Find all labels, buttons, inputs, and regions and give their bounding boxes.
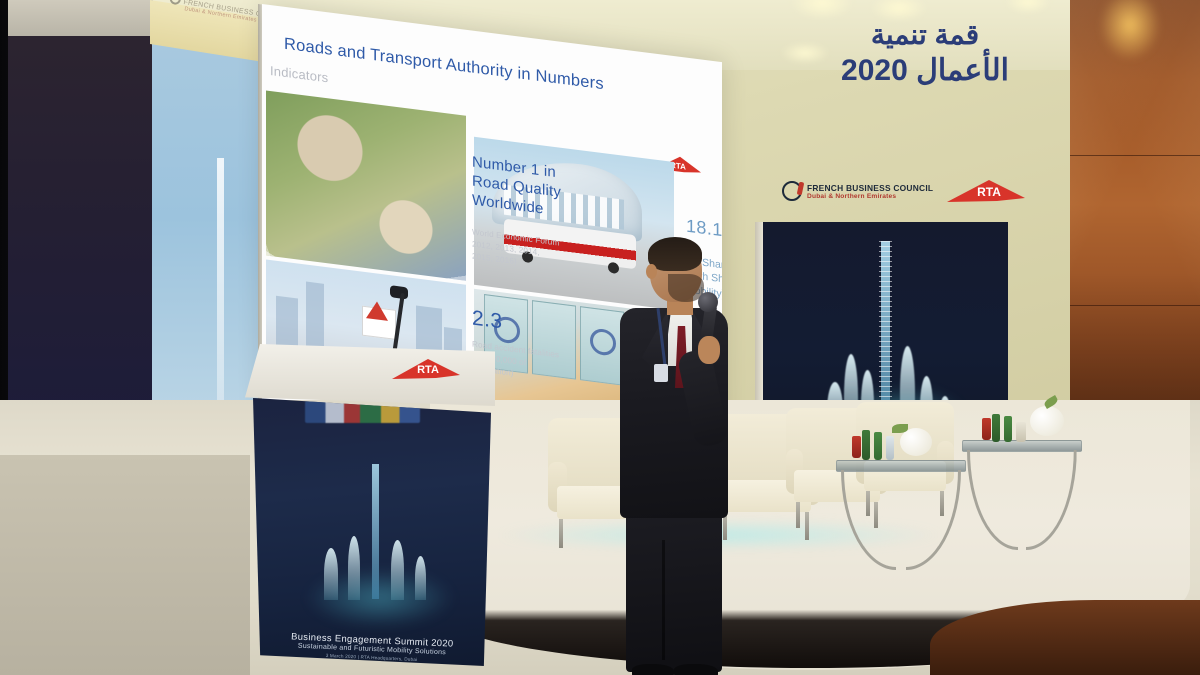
glass-side-table — [836, 460, 966, 580]
cci-icon — [782, 181, 802, 201]
flower-arrangement — [900, 428, 932, 456]
speaker-shoe — [632, 664, 674, 675]
table-legs — [967, 450, 1077, 550]
french-business-council-logo: FRENCH BUSINESS COUNCIL Dubai & Northern… — [782, 181, 933, 201]
slide-image-highway-interchange — [266, 91, 466, 281]
microphone-head-icon — [698, 292, 718, 312]
water-bottle — [1004, 416, 1012, 442]
trouser-seam — [662, 540, 665, 660]
floor-left — [0, 455, 250, 675]
speaker-badge — [654, 364, 668, 382]
podium-fountain-jet — [324, 548, 338, 600]
flower-arrangement — [1030, 406, 1064, 436]
arabic-summit-banner: قمة تنمية الأعمال 2020 — [790, 18, 1060, 88]
podium-burj-khalifa — [372, 464, 379, 599]
cci-ring-icon — [169, 0, 182, 5]
fbc-name: FRENCH BUSINESS COUNCIL — [807, 183, 933, 193]
glass-side-table — [962, 440, 1082, 552]
speaker-trousers — [626, 512, 722, 672]
speaker-hair — [648, 237, 702, 271]
soda-can — [982, 418, 991, 440]
podium-rta-text: RTA — [417, 364, 439, 376]
water-bottle — [862, 430, 870, 460]
warning-triangle-icon — [366, 300, 388, 321]
fbc-region: Dubai & Northern Emirates — [807, 193, 933, 200]
speaker-shoe — [674, 664, 718, 675]
wall-light-glow — [1100, 0, 1160, 60]
wood-wall-panel — [1070, 0, 1200, 455]
podium-rta-logo-icon: RTA — [390, 356, 462, 382]
arabic-title-line2: الأعمال 2020 — [790, 53, 1060, 88]
speaker-presenter — [612, 240, 732, 670]
water-bottle — [886, 436, 894, 460]
slide-subtitle: Indicators — [270, 63, 328, 85]
stat-value-fatalities: 2.3 — [472, 307, 502, 335]
podium-fountain-jet — [348, 536, 360, 600]
water-bottle — [992, 414, 1000, 442]
podium-fountain-jet — [415, 556, 426, 600]
wood-panel-seam — [1070, 155, 1200, 156]
arabic-title-line1: قمة تنمية — [790, 18, 1060, 51]
microphone-head — [390, 285, 408, 299]
rta-logo-icon: RTA — [945, 177, 1027, 205]
speaker-ear — [646, 264, 657, 279]
table-legs — [841, 470, 961, 570]
conference-photo-scene: FRENCH BUSINESS COUNCIL Dubai & Northern… — [0, 0, 1200, 675]
speaker-hand — [698, 336, 720, 364]
podium-fountain-jet — [391, 540, 404, 600]
left-panel-cap — [8, 0, 153, 38]
wood-panel-seam — [1070, 305, 1200, 306]
foliage — [892, 424, 908, 433]
sponsor-logo-row: FRENCH BUSINESS COUNCIL Dubai & Northern… — [782, 170, 1027, 212]
podium-body: Business Engagement Summit 2020 Sustaina… — [253, 398, 491, 666]
rta-logo-text: RTA — [977, 185, 1001, 199]
water-bottle — [874, 432, 882, 460]
glassware — [1016, 422, 1026, 442]
soda-can — [852, 436, 861, 458]
